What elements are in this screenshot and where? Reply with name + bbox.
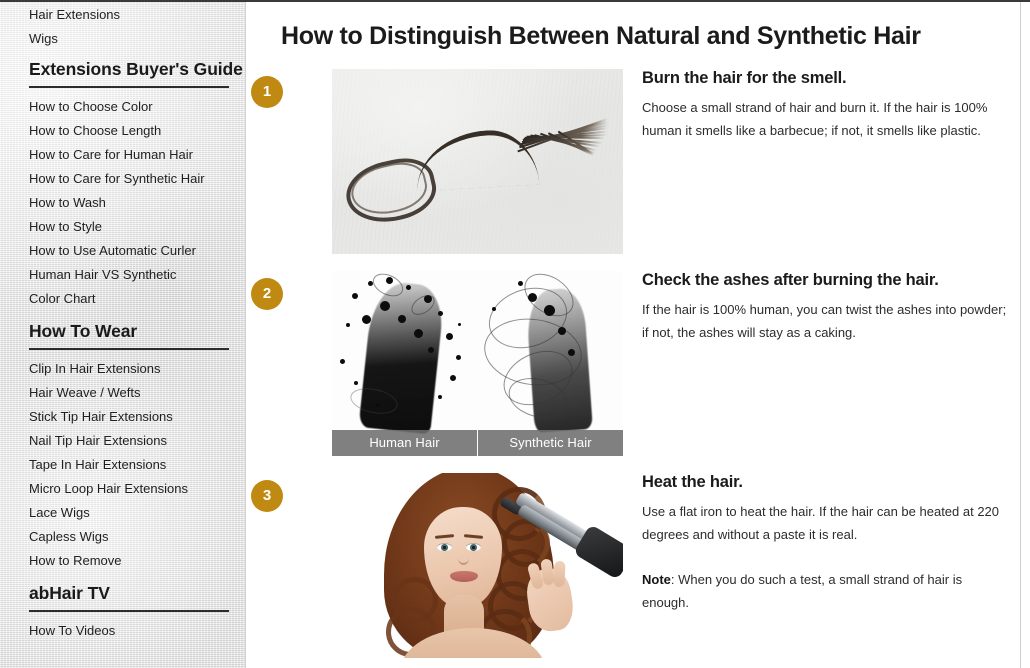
step-number-badge: 1 xyxy=(251,76,283,108)
sidebar-item-color-chart[interactable]: Color Chart xyxy=(0,287,245,311)
step-note-text: : When you do such a test, a small stran… xyxy=(642,572,962,610)
sidebar-item-hair-weave-wefts[interactable]: Hair Weave / Wefts xyxy=(0,381,245,405)
step-image-flat-iron xyxy=(332,473,623,658)
sidebar-heading-rule xyxy=(29,610,229,612)
sidebar-item-how-to-care-for-human-hair[interactable]: How to Care for Human Hair xyxy=(0,143,245,167)
sidebar-item-how-to-choose-color[interactable]: How to Choose Color xyxy=(0,95,245,119)
image-caption-bar: Human Hair Synthetic Hair xyxy=(332,430,623,456)
step-description: If the hair is 100% human, you can twist… xyxy=(642,298,1008,344)
step-note: Note: When you do such a test, a small s… xyxy=(642,568,1008,614)
sidebar-item-capless-wigs[interactable]: Capless Wigs xyxy=(0,525,245,549)
sidebar-spacer xyxy=(0,573,245,583)
caption-human-hair: Human Hair xyxy=(332,430,477,456)
step-number-badge: 3 xyxy=(251,480,283,512)
step-heading: Heat the hair. xyxy=(642,472,1008,492)
step-image-burn-hair xyxy=(332,69,623,254)
sidebar-spacer xyxy=(0,51,245,59)
sidebar-item-human-hair-vs-synthetic[interactable]: Human Hair VS Synthetic xyxy=(0,263,245,287)
sidebar-item-how-to-style[interactable]: How to Style xyxy=(0,215,245,239)
sidebar-item-how-to-videos[interactable]: How To Videos xyxy=(0,619,245,643)
sidebar-item-hair-extensions[interactable]: Hair Extensions xyxy=(0,3,245,27)
eye-icon xyxy=(466,543,481,551)
sidebar-item-stick-tip-hair-extensions[interactable]: Stick Tip Hair Extensions xyxy=(0,405,245,429)
sidebar-heading-rule xyxy=(29,348,229,350)
step-heading: Burn the hair for the smell. xyxy=(642,68,1008,88)
sidebar: Hair Extensions Wigs Extensions Buyer's … xyxy=(0,2,246,668)
ash-comparison-icon: Human Hair Synthetic Hair xyxy=(332,271,623,456)
model-photo-icon xyxy=(332,473,623,658)
sidebar-item-how-to-choose-length[interactable]: How to Choose Length xyxy=(0,119,245,143)
sidebar-item-how-to-care-for-synthetic-hair[interactable]: How to Care for Synthetic Hair xyxy=(0,167,245,191)
caption-synthetic-hair: Synthetic Hair xyxy=(477,430,623,456)
sidebar-heading-how-to-wear: How To Wear xyxy=(0,321,245,342)
step-text-block: Check the ashes after burning the hair. … xyxy=(642,270,1008,344)
sidebar-item-how-to-remove[interactable]: How to Remove xyxy=(0,549,245,573)
sidebar-spacer xyxy=(0,311,245,321)
main-content: How to Distinguish Between Natural and S… xyxy=(247,2,1020,668)
sidebar-item-how-to-use-automatic-curler[interactable]: How to Use Automatic Curler xyxy=(0,239,245,263)
sidebar-nav: Hair Extensions Wigs Extensions Buyer's … xyxy=(0,3,245,643)
sidebar-item-how-to-wash[interactable]: How to Wash xyxy=(0,191,245,215)
sidebar-heading-abhair-tv: abHair TV xyxy=(0,583,245,604)
step-note-label: Note xyxy=(642,572,671,587)
step-item: 2 xyxy=(247,267,1020,455)
sidebar-item-lace-wigs[interactable]: Lace Wigs xyxy=(0,501,245,525)
sidebar-item-micro-loop-hair-extensions[interactable]: Micro Loop Hair Extensions xyxy=(0,477,245,501)
sidebar-heading-rule xyxy=(29,86,229,88)
sidebar-item-clip-in-hair-extensions[interactable]: Clip In Hair Extensions xyxy=(0,357,245,381)
step-heading: Check the ashes after burning the hair. xyxy=(642,270,1008,290)
step-image-ash-comparison: Human Hair Synthetic Hair xyxy=(332,271,623,456)
step-text-block: Burn the hair for the smell. Choose a sm… xyxy=(642,68,1008,142)
ash-panel-human xyxy=(332,271,479,456)
sidebar-heading-extensions-buyers-guide: Extensions Buyer's Guide xyxy=(0,59,245,80)
step-number-badge: 2 xyxy=(251,278,283,310)
step-description: Choose a small strand of hair and burn i… xyxy=(642,96,1008,142)
sidebar-item-tape-in-hair-extensions[interactable]: Tape In Hair Extensions xyxy=(0,453,245,477)
page-root: Hair Extensions Wigs Extensions Buyer's … xyxy=(0,0,1030,668)
step-item: 3 xyxy=(247,469,1020,657)
step-item: 1 xyxy=(247,65,1020,253)
ash-panel-synthetic xyxy=(478,271,624,456)
sidebar-item-wigs[interactable]: Wigs xyxy=(0,27,245,51)
step-description: Use a flat iron to heat the hair. If the… xyxy=(642,500,1008,546)
hair-tips-icon xyxy=(516,114,617,167)
nose-icon xyxy=(458,551,469,565)
step-text-block: Heat the hair. Use a flat iron to heat t… xyxy=(642,472,1008,614)
eye-icon xyxy=(437,543,452,551)
page-title: How to Distinguish Between Natural and S… xyxy=(247,2,1020,51)
sidebar-item-nail-tip-hair-extensions[interactable]: Nail Tip Hair Extensions xyxy=(0,429,245,453)
